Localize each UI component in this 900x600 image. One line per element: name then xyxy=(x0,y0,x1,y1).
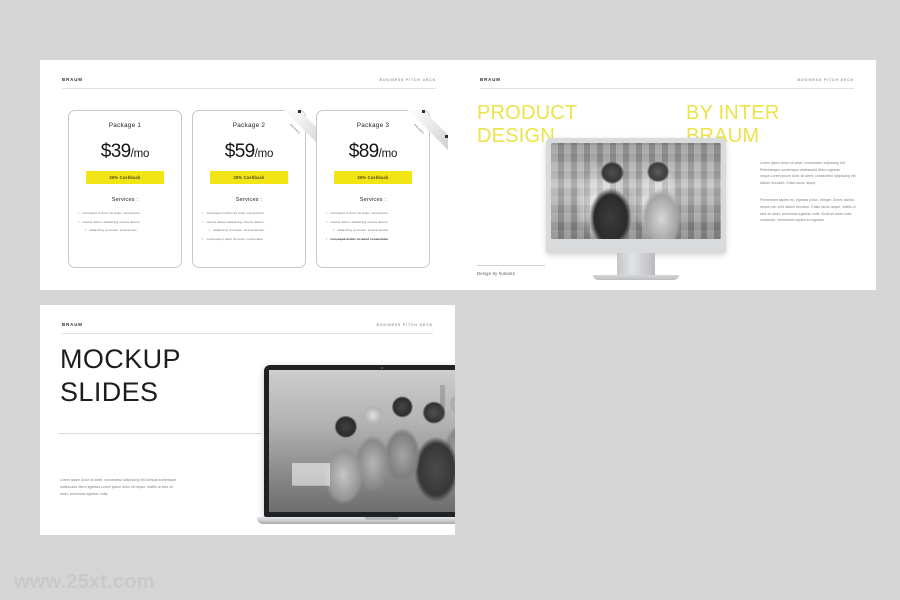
slide-header: BRAUM BUSINESS PITCH DECK xyxy=(480,77,854,82)
imac-bezel xyxy=(546,138,726,253)
list-item: • viverra dictum adipiscing viverra dict… xyxy=(202,220,296,224)
list-item-label: viverra dictum adipiscing viverra dictum xyxy=(330,220,387,224)
bullet-icon: • xyxy=(326,237,327,241)
slide-pricing[interactable]: BRAUM BUSINESS PITCH DECK Package 1 $39/… xyxy=(40,60,458,290)
meta-design-by: Design by humans xyxy=(477,265,545,276)
list-item-label: viverra dictum adipiscing viverra dictum xyxy=(82,220,139,224)
list-item: • adipiscing ut ornare, viverra dictum, xyxy=(202,228,296,232)
imac-screen xyxy=(551,143,721,239)
services-label: Services : xyxy=(112,197,139,203)
pricing-card[interactable]: PROMO Package 3 $89/mo 20% Cashback Serv… xyxy=(316,110,430,268)
package-price: $59/mo xyxy=(225,142,273,161)
list-item: • adipiscing ut ornare, viverra ciao xyxy=(78,228,172,232)
header-divider xyxy=(62,333,433,334)
laptop-mockup xyxy=(264,365,455,524)
list-item-label: Consequa in dolor sit amet, consectetur xyxy=(82,211,140,215)
bullet-icon: • xyxy=(202,237,203,241)
price-amount: $59 xyxy=(225,141,255,162)
office-photo xyxy=(551,143,721,239)
list-item: • consequa mollis sit amet consectetur xyxy=(326,237,420,241)
list-item-label: Consequa in dolor sit amet, consectetur xyxy=(330,211,388,215)
imac-stand-foot xyxy=(593,275,679,280)
meta-label: Design by humans xyxy=(477,271,545,276)
body-paragraph: Lorem ipsum dolor sit amet, consectetur … xyxy=(60,477,180,497)
list-item: • Consequa in dolor sit amet, consectetu… xyxy=(326,211,420,215)
body-paragraph: Lorem ipsum dolor sit amet, consectetur … xyxy=(760,160,857,186)
cashback-badge[interactable]: 20% Cashback xyxy=(86,171,164,184)
ribbon-label: PROMO xyxy=(413,123,425,135)
list-item-label: adipiscing ut ornare, viverra dictum, xyxy=(337,228,389,232)
list-item: • Consequa in dolor sit amet, consectetu… xyxy=(78,211,172,215)
deck-tag-label: BUSINESS PITCH DECK xyxy=(379,78,436,82)
services-list: • Consequa in dolor sit amet, consectetu… xyxy=(200,211,298,246)
package-title: Package 3 xyxy=(357,122,389,129)
list-item: • viverra dictum adipiscing viverra dict… xyxy=(78,220,172,224)
pricing-card[interactable]: PROMO Package 2 $59/mo 20% Cashback Serv… xyxy=(192,110,306,268)
slide-header: BRAUM BUSINESS PITCH DECK xyxy=(62,322,433,327)
page-title: MOCKUP SLIDES xyxy=(60,343,181,410)
bullet-icon: • xyxy=(326,220,327,224)
bullet-icon: • xyxy=(85,228,86,232)
deck-tag-label: BUSINESS PITCH DECK xyxy=(797,78,854,82)
brand-label: BRAUM xyxy=(480,77,501,82)
services-label: Services : xyxy=(360,197,387,203)
bullet-icon: • xyxy=(209,228,210,232)
ribbon-tip xyxy=(422,110,425,113)
slide-header: BRAUM BUSINESS PITCH DECK xyxy=(62,77,436,82)
list-item-label: adipiscing ut ornare, viverra dictum, xyxy=(213,228,265,232)
ribbon-tip xyxy=(445,135,448,138)
bullet-icon: • xyxy=(202,220,203,224)
watermark: www.25xt.com xyxy=(14,571,155,594)
price-amount: $39 xyxy=(101,141,131,162)
list-item: • viverra dictum adipiscing viverra dict… xyxy=(326,220,420,224)
list-item-label: Consequa in dolor sit amet, consectetur xyxy=(206,211,264,215)
package-price: $89/mo xyxy=(349,142,397,161)
pricing-card[interactable]: Package 1 $39/mo 20% Cashback Services :… xyxy=(68,110,182,268)
price-amount: $89 xyxy=(349,141,379,162)
cashback-badge[interactable]: 20% Cashback xyxy=(210,171,288,184)
price-unit: /mo xyxy=(131,148,150,160)
list-item-label: consequa mollis sit amet consectetur xyxy=(330,237,388,241)
cashback-badge[interactable]: 20% Cashback xyxy=(334,171,412,184)
body-copy-column: Lorem ipsum dolor sit amet, consectetur … xyxy=(760,160,857,235)
price-unit: /mo xyxy=(379,148,398,160)
laptop-lid xyxy=(264,365,455,517)
laptop-notch xyxy=(365,517,399,520)
ribbon-tip xyxy=(298,110,301,113)
ribbon-fold xyxy=(408,110,448,150)
body-paragraph: Fermentum sapien eu, egestas purus. Inte… xyxy=(760,197,857,223)
brand-label: BRAUM xyxy=(62,77,83,82)
slide-mockup-slides[interactable]: BRAUM BUSINESS PITCH DECK MOCKUP SLIDES … xyxy=(40,305,455,535)
promo-ribbon-icon: PROMO xyxy=(408,110,448,150)
list-item-label: viverra dictum adipiscing viverra dictum xyxy=(206,220,263,224)
laptop-screen xyxy=(269,370,455,512)
package-price: $39/mo xyxy=(101,142,149,161)
header-divider xyxy=(480,88,854,89)
imac-stand-neck xyxy=(617,253,655,275)
services-list: • Consequa in dolor sit amet, consectetu… xyxy=(76,211,174,237)
slide-product-design[interactable]: BRAUM BUSINESS PITCH DECK PRODUCT DESIGN… xyxy=(458,60,876,290)
list-item: • Consequa in dolor sit amet, consectetu… xyxy=(202,211,296,215)
bullet-icon: • xyxy=(202,211,203,215)
team-photo xyxy=(269,370,455,512)
bullet-icon: • xyxy=(78,211,79,215)
deck-tag-label: BUSINESS PITCH DECK xyxy=(376,323,433,327)
title-divider xyxy=(58,433,261,434)
price-unit: /mo xyxy=(255,148,274,160)
package-title: Package 1 xyxy=(109,122,141,129)
pricing-card-group: Package 1 $39/mo 20% Cashback Services :… xyxy=(68,110,430,268)
package-title: Package 2 xyxy=(233,122,265,129)
list-item: • adipiscing ut ornare, viverra dictum, xyxy=(326,228,420,232)
brand-label: BRAUM xyxy=(62,322,83,327)
laptop-base xyxy=(257,517,455,524)
header-divider xyxy=(62,88,436,89)
ribbon-label: PROMO xyxy=(289,123,301,135)
bullet-icon: • xyxy=(333,228,334,232)
imac-mockup xyxy=(546,138,726,280)
services-list: • Consequa in dolor sit amet, consectetu… xyxy=(324,211,422,246)
list-item-label: adipiscing ut ornare, viverra ciao xyxy=(89,228,136,232)
list-item-label: consequa in dolor sit amet, consectetur xyxy=(206,237,263,241)
bullet-icon: • xyxy=(78,220,79,224)
camera-icon xyxy=(381,367,383,369)
services-label: Services : xyxy=(236,197,263,203)
list-item: • consequa in dolor sit amet, consectetu… xyxy=(202,237,296,241)
bullet-icon: • xyxy=(326,211,327,215)
meta-divider xyxy=(477,265,545,266)
